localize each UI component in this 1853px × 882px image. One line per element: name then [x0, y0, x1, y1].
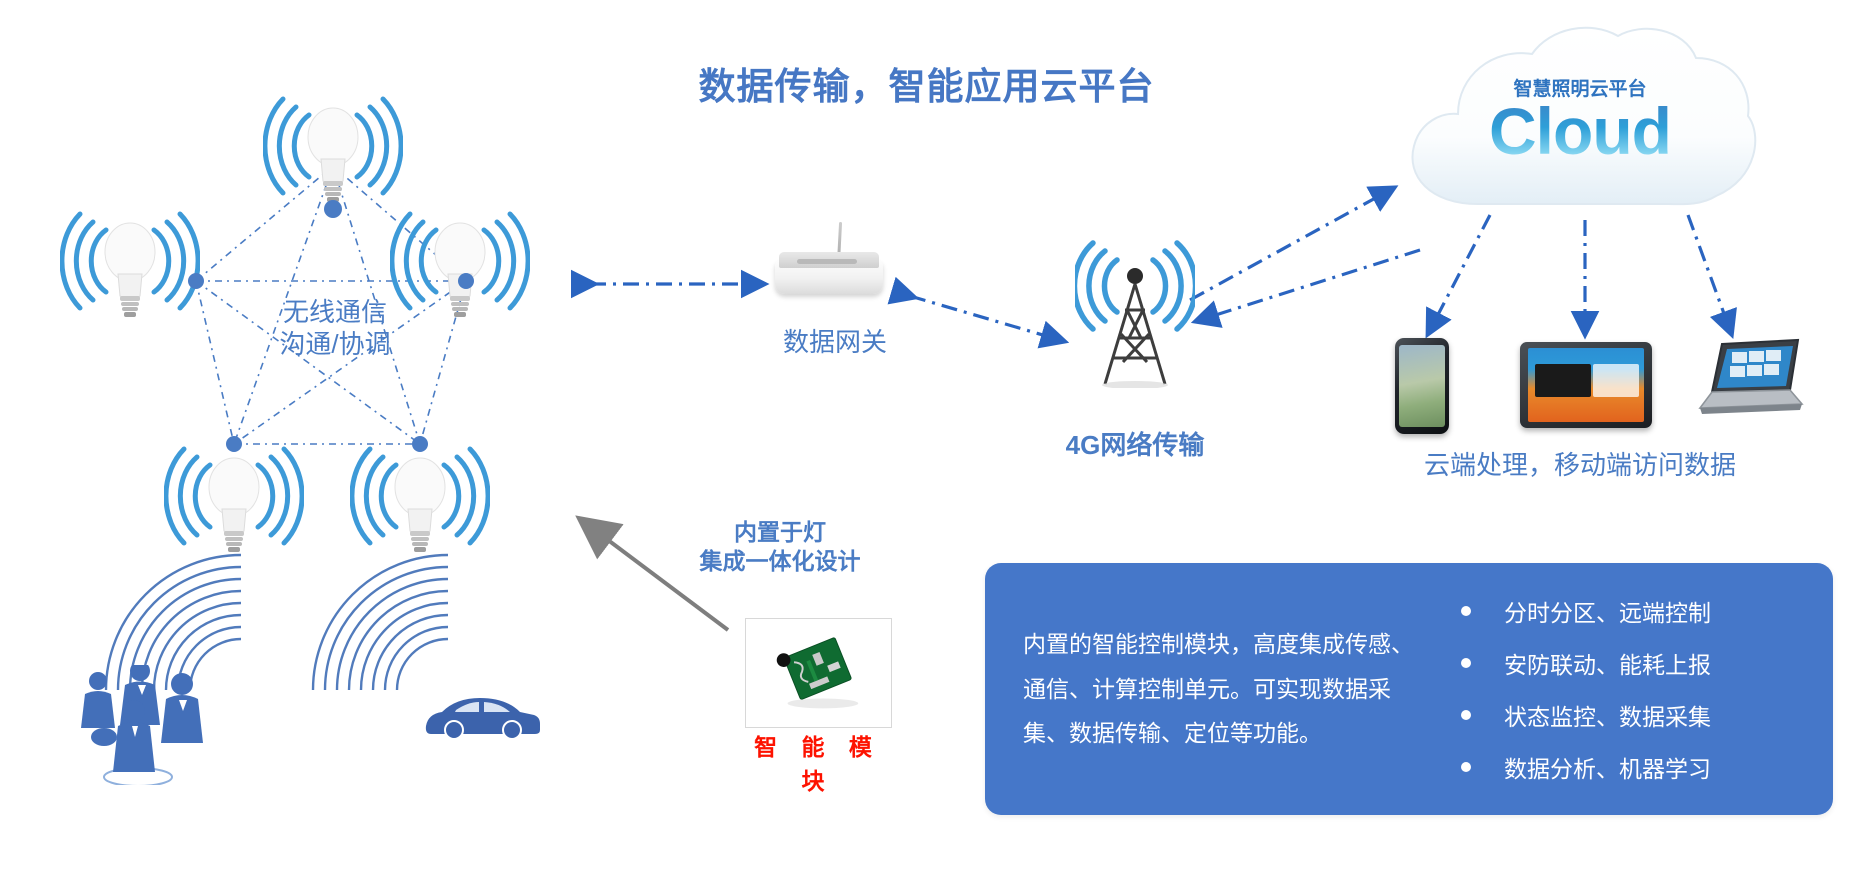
people-group-icon [78, 665, 223, 785]
list-item-label: 分时分区、远端控制 [1504, 594, 1711, 628]
module-caption: 智 能 模 块 [735, 728, 900, 796]
tablet-media-tile [1535, 364, 1591, 397]
devices-label: 云端处理，移动端访问数据 [1370, 450, 1790, 482]
bullet-dot-icon [1461, 762, 1471, 772]
light-bulb-icon [263, 85, 403, 220]
info-paragraph: 内置的智能控制模块，高度集成传感、通信、计算控制单元。可实现数据采集、数据传输、… [1023, 622, 1423, 757]
router-vent [797, 259, 857, 264]
network-label: 4G网络传输 [1000, 430, 1270, 462]
cloud-wordmark: Cloud [1400, 93, 1760, 169]
list-item: 数据分析、机器学习 [1461, 741, 1833, 793]
cell-tower-icon [1075, 238, 1195, 388]
router-icon [775, 222, 887, 302]
laptop-icon [1686, 338, 1806, 422]
tablet-widget-tile [1593, 364, 1639, 397]
list-item: 安防联动、能耗上报 [1461, 637, 1833, 689]
mesh-node-dot [412, 436, 428, 452]
smartphone-screen [1399, 345, 1445, 427]
pcb-module-photo [745, 618, 892, 728]
list-item-label: 安防联动、能耗上报 [1504, 646, 1711, 680]
mesh-node-dot [188, 273, 204, 289]
wireless-mesh-label: 无线通信 沟通/协调 [215, 297, 455, 360]
list-item: 分时分区、远端控制 [1461, 585, 1833, 637]
mesh-node-dot [458, 273, 474, 289]
bullet-dot-icon [1461, 710, 1471, 720]
bullet-dot-icon [1461, 606, 1471, 616]
bullet-dot-icon [1461, 658, 1471, 668]
list-item-label: 数据分析、机器学习 [1504, 750, 1711, 784]
list-item: 状态监控、数据采集 [1461, 689, 1833, 741]
diagram-canvas: 数据传输，智能应用云平台 [0, 0, 1853, 882]
light-bulb-icon [60, 200, 200, 335]
mesh-node-dot [226, 436, 242, 452]
list-item-label: 状态监控、数据采集 [1504, 698, 1711, 732]
info-panel: 内置的智能控制模块，高度集成传感、通信、计算控制单元。可实现数据采集、数据传输、… [985, 563, 1833, 815]
tablet-screen [1528, 348, 1644, 422]
tablet-icon [1520, 342, 1652, 428]
module-callout-label: 内置于灯 集成一体化设计 [655, 518, 905, 576]
light-bulb-icon [350, 435, 490, 570]
light-bulb-icon [164, 435, 304, 570]
cloud-icon: 智慧照明云平台 Cloud [1400, 18, 1760, 218]
smartphone-icon [1395, 338, 1449, 434]
gateway-label: 数据网关 [715, 327, 955, 359]
car-icon [420, 690, 540, 745]
info-bullet-list: 分时分区、远端控制 安防联动、能耗上报 状态监控、数据采集 数据分析、机器学习 [1461, 585, 1833, 793]
